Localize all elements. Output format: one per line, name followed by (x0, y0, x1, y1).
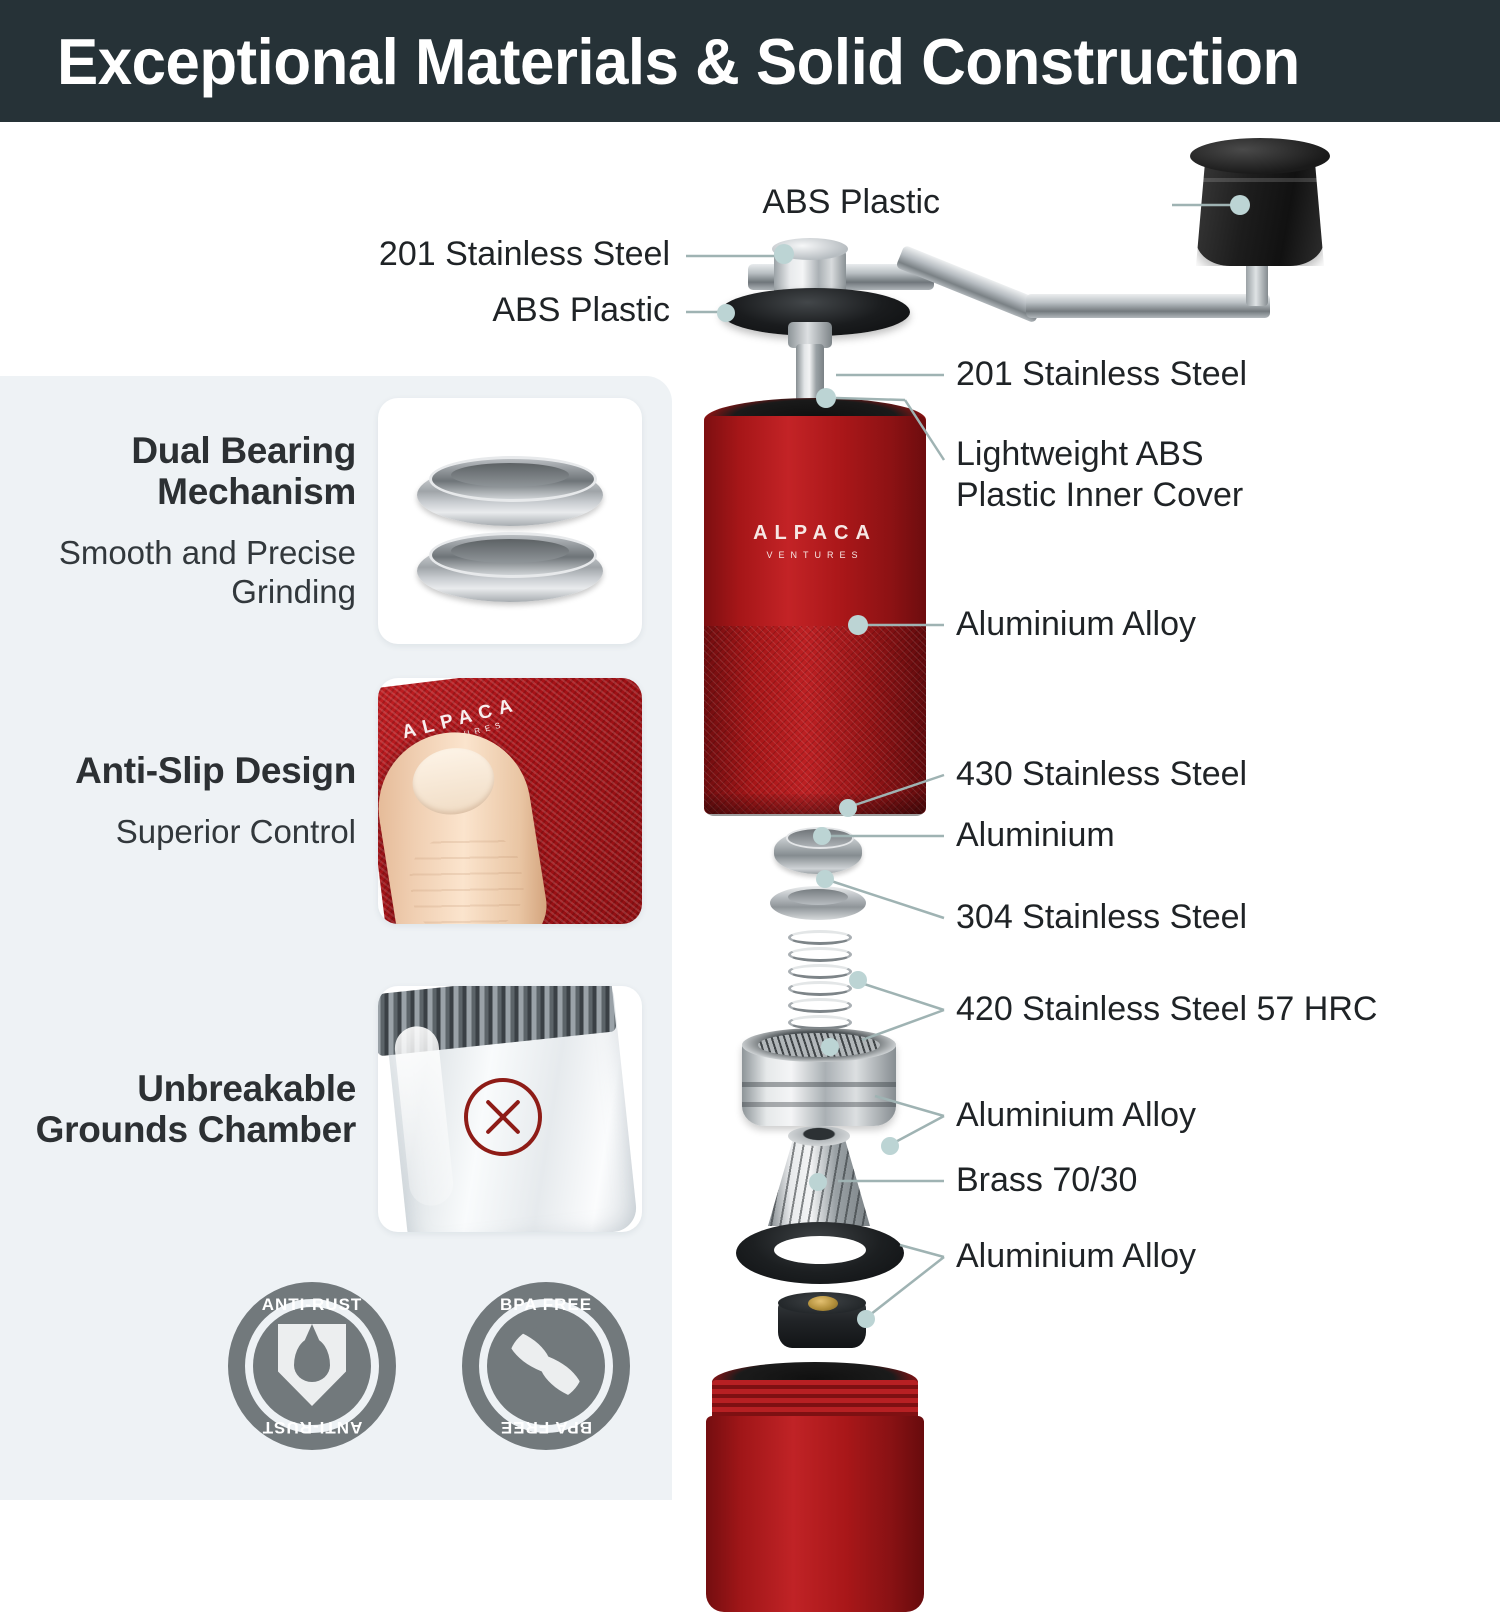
callout-burr-cone: Aluminium Alloy (956, 1095, 1196, 1136)
callout-chamber: Aluminium Alloy (956, 1236, 1196, 1277)
brand-tagline: VENTURES (704, 550, 926, 560)
crank-hub-steel-top (772, 238, 848, 260)
body-knurled-grip (704, 626, 926, 814)
callout-crank-arm: 201 Stainless Steel (956, 354, 1247, 395)
body-bottom-shadow (704, 794, 926, 816)
crank-knob-seam (1200, 178, 1320, 182)
crank-knob-top (1190, 138, 1330, 174)
feature-text: Anti-Slip Design Superior Control (0, 750, 378, 851)
callout-knob: ABS Plastic (620, 182, 940, 223)
feature-unbreakable-chamber: Unbreakable Grounds Chamber (0, 986, 672, 1232)
conical-burr-flutes (768, 1134, 870, 1226)
aluminium-washer (770, 886, 866, 920)
conical-burr-top (788, 1126, 850, 1146)
badge-bpa-free: BPA FREE BPA FREE (462, 1282, 630, 1450)
leaf-shape (531, 1354, 584, 1401)
brand-name: ALPACA (753, 522, 877, 544)
bearing-ring-upper (417, 464, 603, 526)
page-header: Exceptional Materials & Solid Constructi… (0, 0, 1500, 122)
badge-anti-rust: ANTI-RUST ANTI-RUST (228, 1282, 396, 1450)
burr-ring-groove (742, 1102, 896, 1107)
feature-text: Unbreakable Grounds Chamber (0, 1068, 378, 1151)
spring-coil (788, 964, 852, 979)
callout-washer: Aluminium (956, 815, 1115, 856)
grounds-chamber-body (706, 1416, 924, 1612)
feature-anti-slip: Anti-Slip Design Superior Control ALPACA… (0, 678, 672, 924)
callout-burr-ring: 420 Stainless Steel 57 HRC (956, 989, 1377, 1030)
thumb-on-knurled-grip-photo: ALPACA VENTURES (378, 678, 642, 924)
feature-text: Dual Bearing Mechanism Smooth and Precis… (0, 430, 378, 612)
page-title: Exceptional Materials & Solid Constructi… (0, 24, 1300, 99)
feature-title: Anti-Slip Design (0, 750, 356, 791)
feature-subtitle: Smooth and Precise Grinding (0, 533, 356, 612)
feature-title: Unbreakable Grounds Chamber (0, 1068, 356, 1151)
badge-label-top: BPA FREE (462, 1295, 630, 1315)
outer-burr-teeth (758, 1033, 880, 1057)
dual-bearings-photo (378, 398, 642, 644)
callout-hub-disc: ABS Plastic (300, 290, 670, 331)
badge-label-bottom: BPA FREE (462, 1417, 630, 1437)
callout-body: Aluminium Alloy (956, 604, 1196, 645)
callout-inner-cover: Lightweight ABS Plastic Inner Cover (956, 434, 1243, 517)
bearing-430-stainless (774, 830, 862, 874)
crank-arm-outer (1026, 294, 1270, 318)
glass-jar-not-allowed-photo (378, 986, 642, 1232)
callout-hub-steel: 201 Stainless Steel (300, 234, 670, 275)
spring-304-stainless (788, 930, 852, 1030)
feature-dual-bearing: Dual Bearing Mechanism Smooth and Precis… (0, 398, 672, 644)
callout-brass: Brass 70/30 (956, 1160, 1137, 1201)
spring-coil (788, 998, 852, 1013)
spring-coil (788, 981, 852, 996)
callout-spring: 304 Stainless Steel (956, 897, 1247, 938)
x-circle-icon (464, 1078, 542, 1156)
certification-badges: ANTI-RUST ANTI-RUST BPA FREE BPA FREE (228, 1282, 648, 1462)
spring-coil (788, 947, 852, 962)
badge-label-top: ANTI-RUST (228, 1295, 396, 1315)
spring-coil (788, 930, 852, 945)
burr-ring-groove (742, 1082, 896, 1087)
feature-subtitle: Superior Control (0, 812, 356, 852)
feature-title: Dual Bearing Mechanism (0, 430, 356, 513)
brass-nut-7030 (808, 1296, 838, 1311)
body-brand-logo: ALPACA VENTURES (704, 522, 926, 560)
leaf-circle-icon (508, 1326, 584, 1402)
burr-support-ring-hole (774, 1236, 866, 1264)
bearing-ring-lower (417, 540, 603, 602)
callout-bearing: 430 Stainless Steel (956, 754, 1247, 795)
badge-label-bottom: ANTI-RUST (228, 1417, 396, 1437)
